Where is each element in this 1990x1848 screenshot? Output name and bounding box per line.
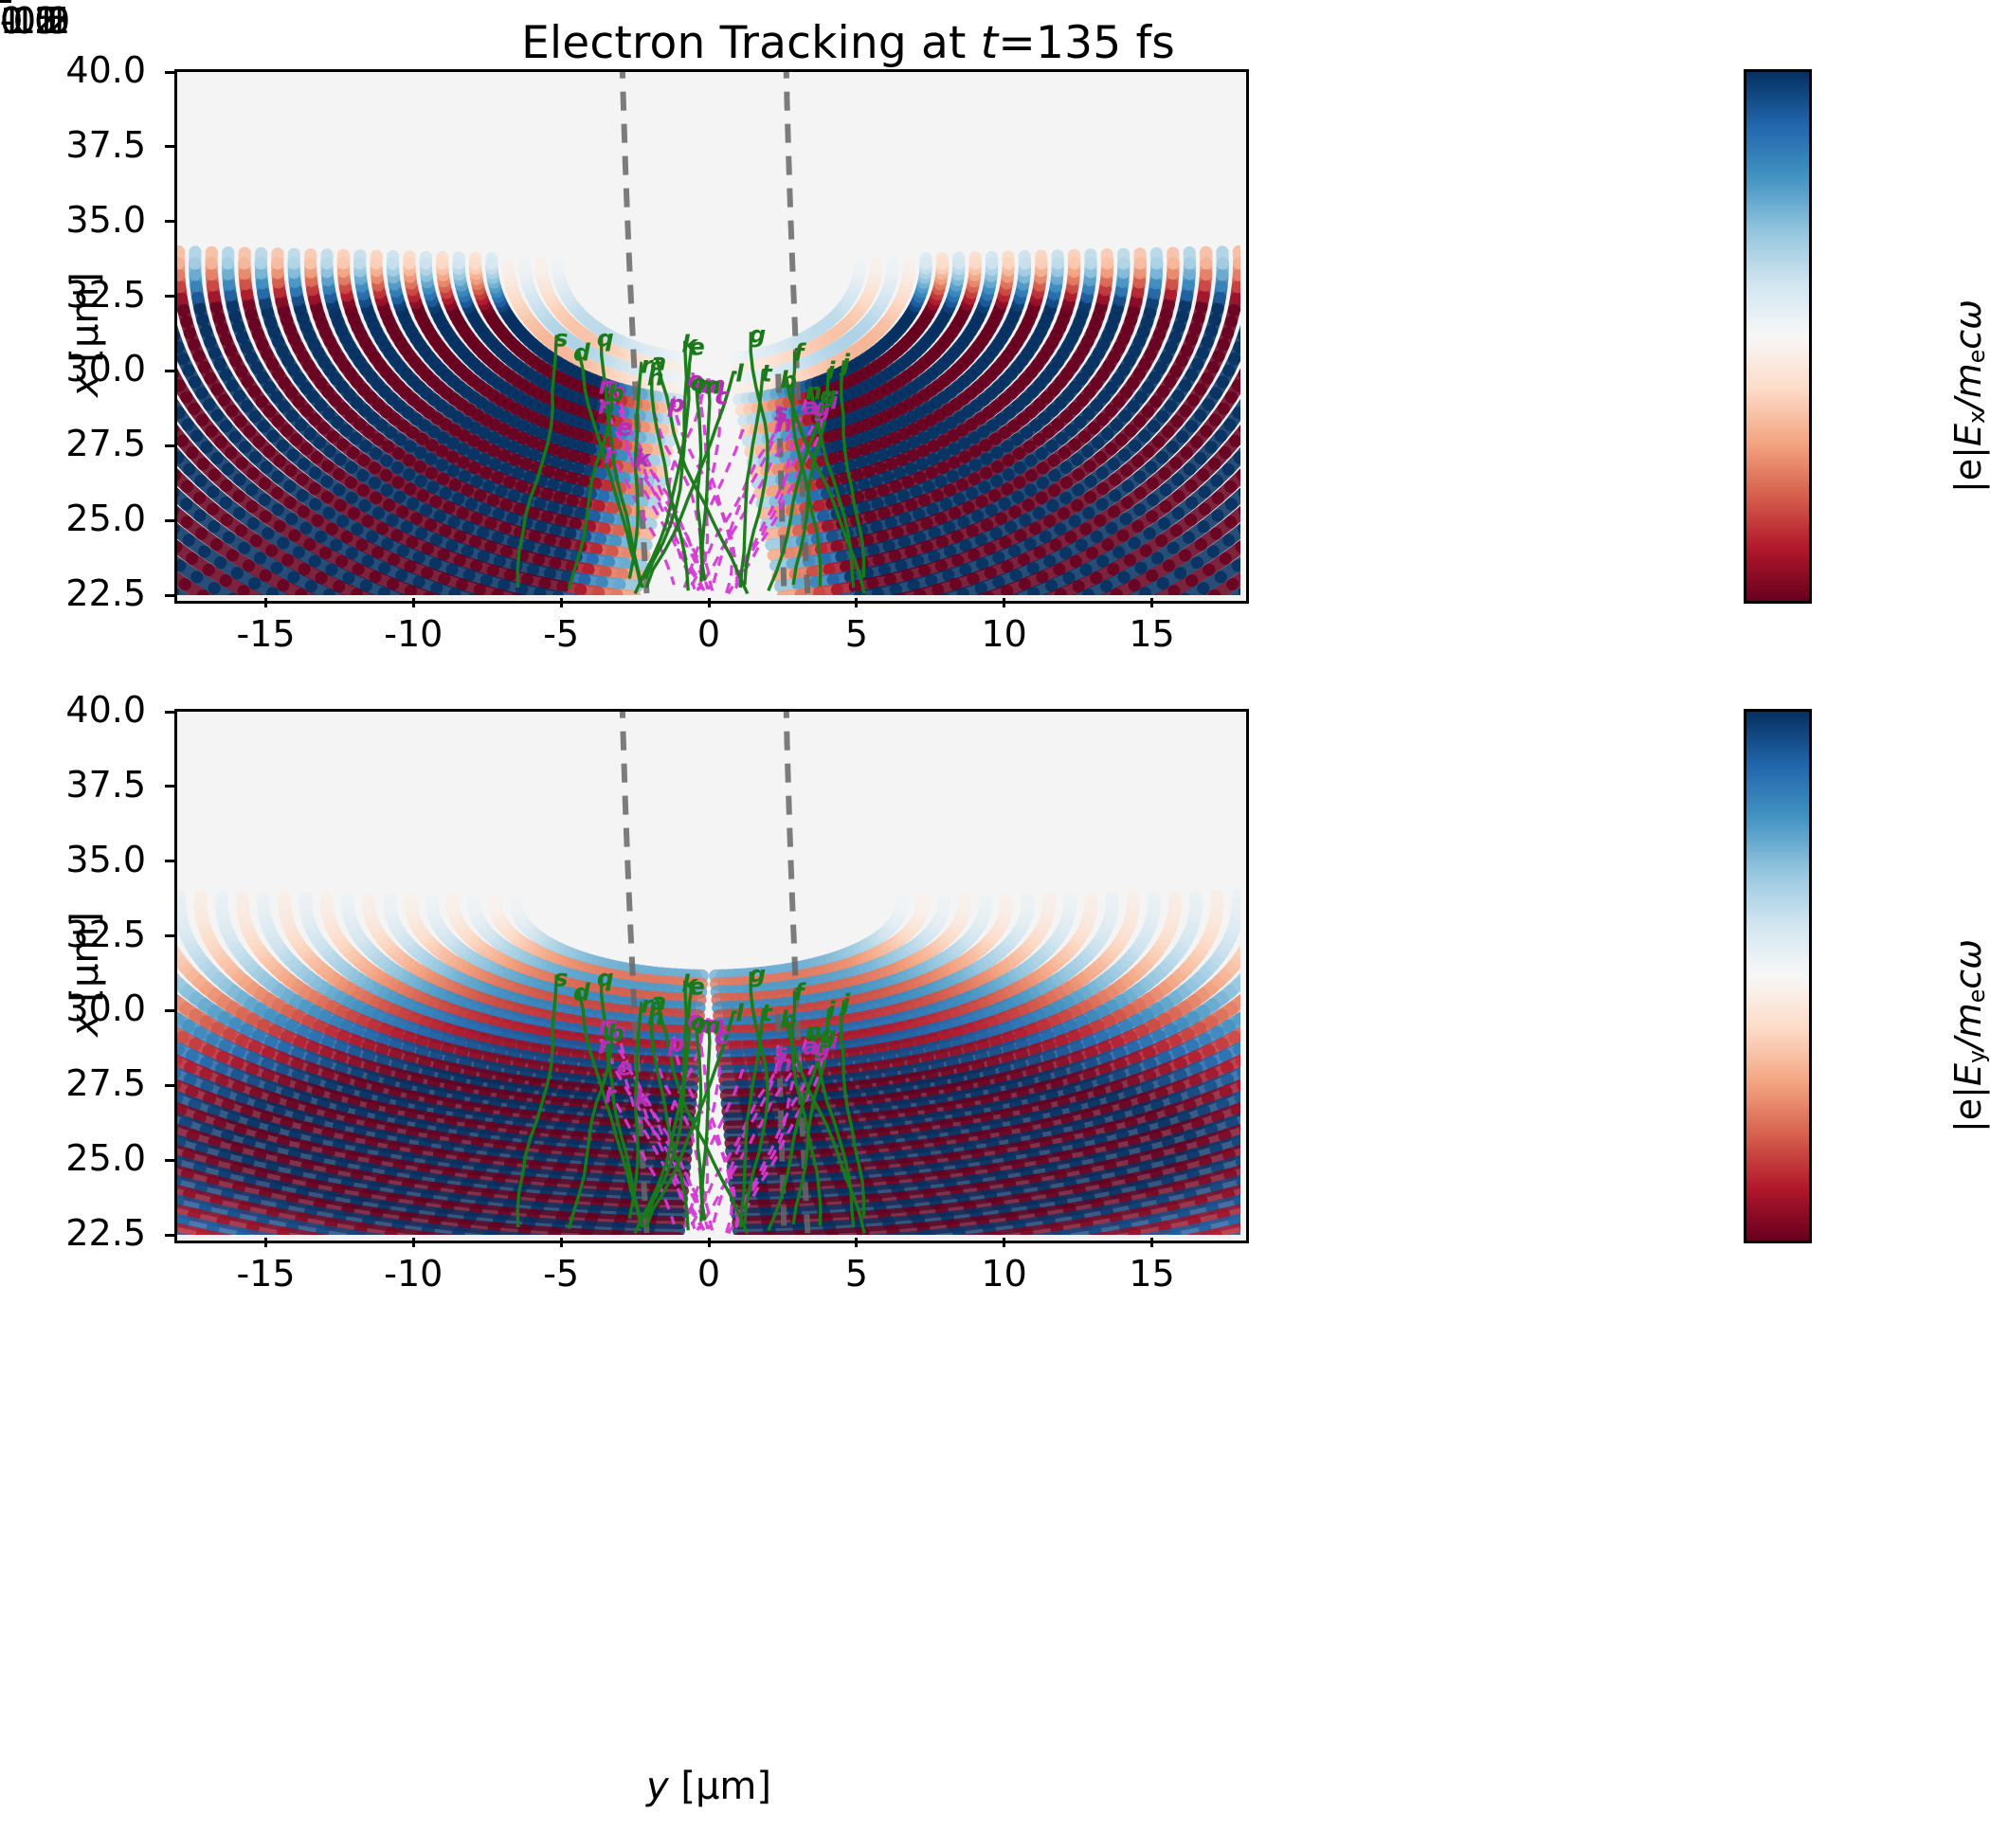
xlabel-unit: [μm] [669,1765,771,1808]
xtick [1003,1238,1005,1247]
ytick [165,1009,174,1012]
xtick [264,1238,267,1247]
xlabel-var: y [646,1765,669,1808]
xtick [855,598,858,607]
xtick-label: 15 [1095,613,1209,655]
colorbar-ey-gradient [1746,712,1809,1241]
cb2-msub: e [1963,989,1990,1004]
xtick [1150,1238,1153,1247]
xtick [1150,598,1153,607]
ytick [165,594,174,597]
ytick [165,1234,174,1237]
xtick-label: 10 [948,1253,1061,1295]
xtick-label: 0 [652,613,766,655]
colorbar-ex-gradient [1746,72,1809,601]
page-title: Electron Tracking at t=135 fs [0,17,1696,69]
ylabel-unit: [μm] [63,272,107,374]
colorbar-tick-label: 1.5 [0,0,57,42]
xtick-label: -10 [356,1253,470,1295]
cb1-E: E [1947,424,1989,446]
xtick [412,598,415,607]
ytick [165,1159,174,1162]
cb2-cw: cω [1947,939,1989,989]
ytick [165,519,174,522]
colorbar-ex[interactable] [1744,69,1812,604]
panel-ey-axes[interactable]: nbomcpsharergkisdqrahkeomgfltbingjb [174,709,1249,1243]
ytick [165,1084,174,1087]
cb1-msub: e [1963,350,1990,364]
title-variable: t [981,17,999,69]
xtick-label: -15 [209,1253,323,1295]
ytick [165,145,174,148]
cb1-m: m [1947,363,1989,398]
xtick-label: -5 [504,1253,618,1295]
ylabel-unit-2: [μm] [63,912,107,1014]
ytick [165,370,174,372]
xtick [1003,598,1005,607]
panel-ey-ylabel: x [μm] [63,851,107,1097]
xtick-label: 5 [800,1253,914,1295]
ytick-label: 40.0 [32,49,146,91]
ytick-label: 22.5 [32,572,146,614]
xtick-label: 5 [800,613,914,655]
colorbar-ey[interactable] [1744,709,1812,1243]
xtick [412,1238,415,1247]
ytick-label: 22.5 [32,1212,146,1254]
cb2-abs: |e| [1947,1086,1989,1132]
cb1-sub: x [1963,410,1990,424]
cb1-cw: cω [1947,299,1989,350]
xtick [560,1238,563,1247]
ylabel-var: x [63,374,107,397]
ytick [165,295,174,298]
figure-root: Electron Tracking at t=135 fs nbomcpshar… [0,0,1990,1848]
ytick [165,785,174,788]
ytick-label: 40.0 [32,689,146,731]
ytick [165,711,174,714]
xtick [560,598,563,607]
cb2-sub: y [1963,1050,1990,1063]
xtick [855,1238,858,1247]
ytick [165,934,174,937]
ytick [165,860,174,862]
xtick-label: 0 [652,1253,766,1295]
cb2-E: E [1947,1063,1989,1086]
colorbar-ex-title: |e|Ex/mecω [1947,299,1990,493]
title-value: 135 [1036,17,1121,69]
ylabel-var-2: x [63,1014,107,1037]
xtick [708,598,711,607]
cb2-div: / [1947,1038,1989,1050]
colorbar-ey-title: |e|Ey/mecω [1947,939,1990,1132]
xtick [708,1238,711,1247]
ytick [165,220,174,223]
ytick-label: 25.0 [32,1137,146,1179]
ytick-label: 25.0 [32,498,146,539]
cb1-div: / [1947,398,1989,410]
ex-overlay-svg [177,72,1240,595]
ytick [165,71,174,74]
panel-xlabel: y [μm] [174,1765,1243,1808]
ytick-label: 37.5 [32,124,146,166]
ytick [165,444,174,447]
xtick-label: -5 [504,613,618,655]
xtick [264,598,267,607]
panel-ex-ylabel: x [μm] [63,211,107,458]
xtick-label: -15 [209,613,323,655]
xtick-label: 15 [1095,1253,1209,1295]
ey-overlay-svg [177,712,1240,1235]
panel-ex-axes[interactable]: nbomcpsharergkisdqrahkeomgfltbingjb [174,69,1249,604]
title-unit: fs [1121,17,1175,69]
cb2-m: m [1947,1003,1989,1038]
ytick-label: 37.5 [32,764,146,806]
title-prefix: Electron Tracking at [521,17,981,69]
cb1-abs: |e| [1947,446,1989,493]
xtick-label: -10 [356,613,470,655]
title-equals: = [998,17,1036,69]
xtick-label: 10 [948,613,1061,655]
